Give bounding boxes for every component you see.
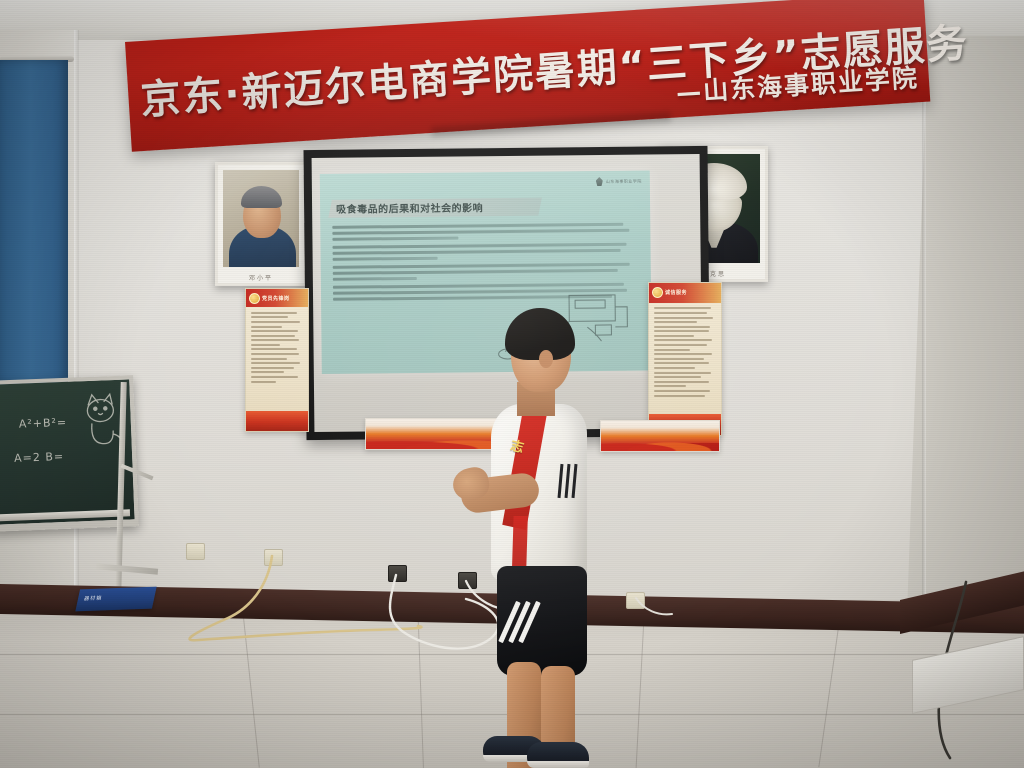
- presenter-sleeve-stripes: [559, 464, 581, 498]
- wall-strip-poster-right: [600, 420, 720, 452]
- window-blind: [0, 60, 68, 390]
- poster-emblem-icon: [652, 287, 663, 298]
- poster-body-left: [251, 312, 303, 409]
- portrait-deng-xiaoping: 邓小平: [215, 162, 307, 286]
- wall-poster-left: 党员先锋岗: [245, 288, 309, 432]
- slide-logo-text: 山东海事职业学院: [606, 178, 642, 184]
- chalk-line-2: A=2 B=: [14, 450, 64, 465]
- presenter-shoe-front: [527, 742, 589, 768]
- presenter-person: 志: [455, 300, 605, 768]
- poster-header-text-right: 诚信服务: [665, 289, 687, 296]
- slide-paragraph: [332, 243, 632, 261]
- portrait-caption-deng: 邓小平: [218, 273, 304, 282]
- poster-header-right: 诚信服务: [649, 283, 722, 303]
- classroom-photo-scene: 京东·新迈尔电商学院暑期“三下乡”志愿服务 —山东海事职业学院 邓小平 马克思: [0, 0, 1024, 768]
- poster-header-text-left: 党员先锋岗: [262, 295, 290, 302]
- outlet-cable-short: [628, 592, 688, 632]
- slide-paragraph: [332, 223, 632, 241]
- portrait-image-deng: [223, 170, 299, 267]
- poster-footer-left: [246, 411, 308, 431]
- poster-emblem-icon: [249, 293, 260, 304]
- poster-header-left: 党员先锋岗: [246, 289, 309, 307]
- slide-title: 吸食毒品的后果和对社会的影响: [336, 199, 483, 216]
- slide-logo: 山东海事职业学院: [596, 177, 642, 186]
- presenter-ear: [539, 350, 553, 368]
- poster-body-right: [654, 307, 716, 410]
- chalk-line-1: A²+B²=: [19, 416, 68, 431]
- presenter-shoe-sole: [527, 761, 589, 768]
- wall-poster-right: 诚信服务: [648, 282, 722, 436]
- slide-paragraph: [333, 263, 633, 281]
- slide-logo-mark-icon: [596, 177, 603, 186]
- presenter-shorts-stripes: [507, 600, 539, 644]
